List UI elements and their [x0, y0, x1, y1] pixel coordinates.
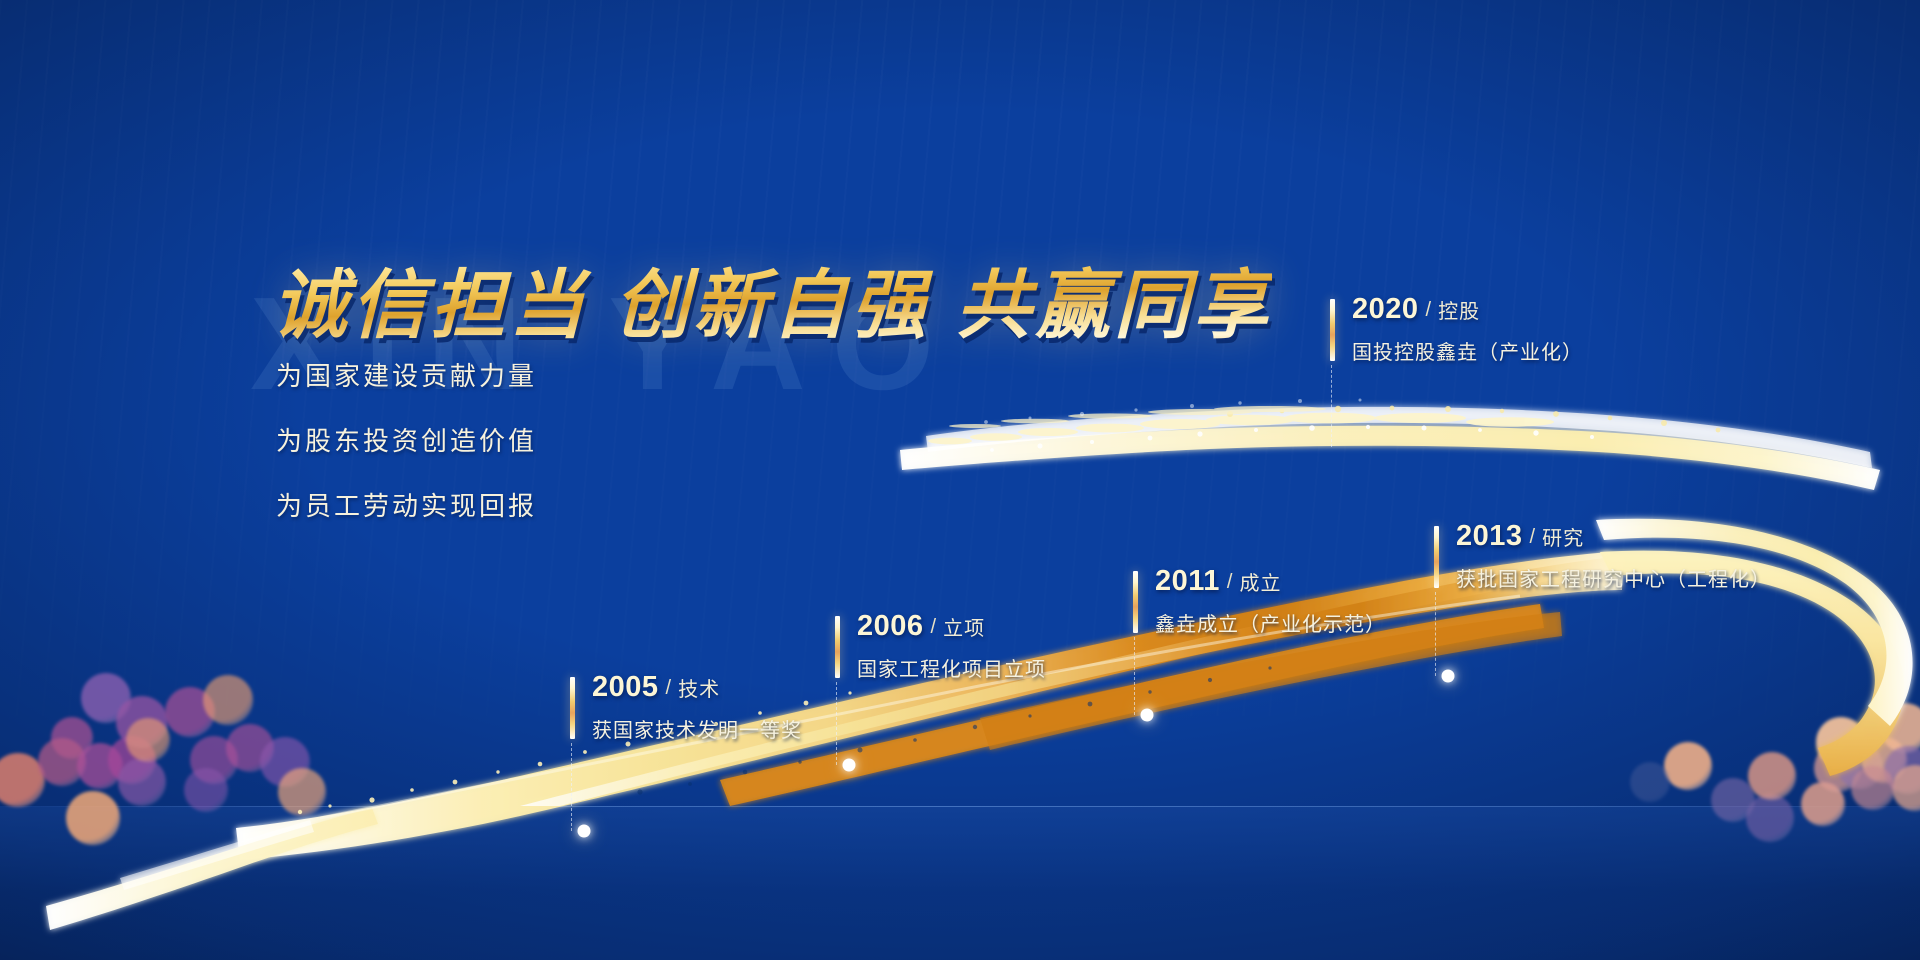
timeline-separator: /: [1220, 571, 1240, 593]
timeline-year: 2006: [857, 610, 924, 642]
timeline-point-marker[interactable]: [1141, 709, 1154, 722]
timeline-text-block: 2020/控股国投控股鑫垚（产业化）: [1352, 295, 1583, 365]
timeline-marker-bar: [570, 677, 575, 739]
slogan-list: 为国家建设贡献力量 为股东投资创造价值 为员工劳动实现回报: [276, 356, 537, 523]
bokeh-circle: [1746, 794, 1794, 842]
timeline-description: 国投控股鑫垚（产业化）: [1352, 336, 1583, 365]
timeline-tag: 研究: [1542, 528, 1584, 550]
timeline-description: 国家工程化项目立项: [857, 653, 1046, 682]
timeline-text-block: 2013/研究获批国家工程研究中心（工程化）: [1456, 522, 1771, 592]
timeline-leader-line: [1435, 592, 1436, 676]
timeline-year: 2005: [592, 671, 659, 703]
timeline-marker-bar: [1434, 526, 1439, 588]
bokeh-circle: [66, 791, 120, 845]
headline-part-2: 创新自强: [614, 263, 930, 347]
timeline-text-block: 2006/立项国家工程化项目立项: [857, 612, 1046, 682]
headline-part-3: 共赢同享: [956, 263, 1272, 347]
bokeh-circle: [1630, 762, 1670, 802]
timeline-leader-line: [1134, 637, 1135, 715]
slogan-line-2: 为股东投资创造价值: [276, 421, 537, 458]
slogan-line-3: 为员工劳动实现回报: [276, 486, 537, 523]
bokeh-circle: [118, 758, 166, 806]
timeline-description: 鑫垚成立（产业化示范）: [1155, 608, 1386, 637]
bokeh-circle: [1664, 742, 1712, 790]
timeline-tag: 立项: [943, 618, 985, 640]
timeline-tag: 成立: [1239, 573, 1281, 595]
timeline-year: 2011: [1155, 565, 1220, 597]
timeline-year: 2020: [1352, 293, 1419, 325]
timeline-separator: /: [1523, 526, 1543, 548]
slogan-line-1: 为国家建设贡献力量: [276, 356, 537, 393]
timeline-leader-line: [571, 743, 572, 831]
bokeh-circle: [1851, 766, 1895, 810]
bokeh-circle: [184, 768, 228, 812]
timeline-description: 获批国家工程研究中心（工程化）: [1456, 563, 1771, 592]
timeline-tag: 控股: [1438, 301, 1480, 323]
bokeh-circle: [278, 768, 326, 816]
timeline-separator: /: [659, 677, 679, 699]
timeline-year: 2013: [1456, 520, 1523, 552]
timeline-heading: 2005/技术: [592, 673, 802, 702]
timeline-point-marker[interactable]: [578, 825, 591, 838]
banner-canvas: XIN YAO 诚信担当创新自强共赢同享 为国家建设贡献力量 为股东投资创造价值…: [0, 0, 1920, 960]
headline-part-1: 诚信担当: [272, 263, 588, 347]
bokeh-circle: [203, 675, 253, 725]
timeline-text-block: 2005/技术获国家技术发明一等奖: [592, 673, 802, 743]
timeline-leader-line: [1331, 365, 1332, 447]
timeline-separator: /: [1419, 299, 1439, 321]
timeline-leader-line: [836, 682, 837, 765]
timeline-tag: 技术: [678, 679, 720, 701]
background-bottom-band: [0, 806, 1920, 960]
timeline-separator: /: [924, 616, 944, 638]
page-title: 诚信担当创新自强共赢同享: [272, 244, 1272, 353]
bokeh-circle: [1748, 752, 1796, 800]
timeline-marker-bar: [1330, 299, 1335, 361]
timeline-marker-bar: [835, 616, 840, 678]
timeline-heading: 2020/控股: [1352, 295, 1583, 324]
timeline-heading: 2006/立项: [857, 612, 1046, 641]
timeline-marker-bar: [1133, 571, 1138, 633]
timeline-heading: 2013/研究: [1456, 522, 1771, 551]
timeline-description: 获国家技术发明一等奖: [592, 714, 802, 743]
timeline-text-block: 2011/成立鑫垚成立（产业化示范）: [1155, 567, 1386, 637]
bokeh-circle: [126, 718, 170, 762]
timeline-point-marker[interactable]: [843, 759, 856, 772]
timeline-point-marker[interactable]: [1442, 670, 1455, 683]
timeline-heading: 2011/成立: [1155, 567, 1386, 596]
